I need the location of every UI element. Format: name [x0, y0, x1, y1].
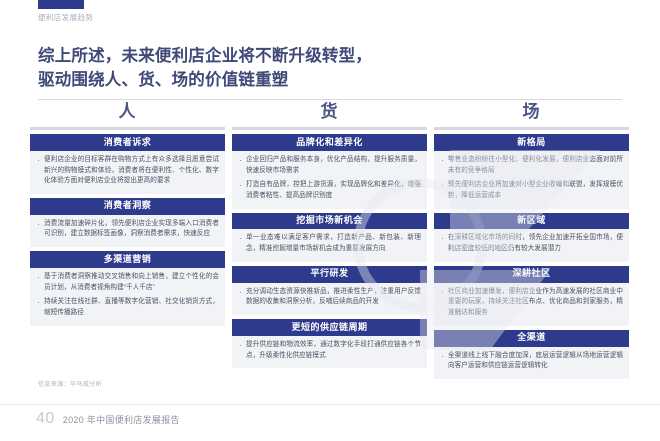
card-omnichannel: 全渠道 全渠道线上线下融合度加深，底层运营逻辑从场地运营逻辑向客户运营和供应链运… [434, 330, 629, 379]
card-bullets: 社区商业加速爆发，便利店企业作为高速发展的社区商业中重要的玩家，持续关注社区布点… [434, 283, 629, 321]
heading-divider [38, 99, 622, 100]
bullet-item: 企业回归产品和服务本身，优化产品结构，提升服务质量，快速反映市场需求 [239, 155, 421, 176]
bullet-item: 持续关注在线社群、直播等数字化营销、社交化销货方式，缩短传播路径 [37, 297, 219, 318]
bullet-item: 基于消费者洞察推动交叉销售和向上销售，建立个性化的会员计划，从消费者视角构建“千… [37, 272, 219, 293]
card-title: 挖掘市场新机会 [232, 213, 427, 230]
card-bullets: 在深耕区域化市场的同时，领先企业加速开拓全国市场，便利店密度较低的地区仍有较大发… [434, 229, 629, 256]
card-branding-differentiation: 品牌化和差异化 企业回归产品和服务本身，优化产品结构，提升服务质量，快速反映市场… [232, 134, 427, 209]
source-note: 信息来源：毕马威分析 [38, 379, 102, 388]
card-bullets: 便利店企业的目标客群在购物方式上有众多选择且愿意尝试新兴的购物模式和体验，消费者… [30, 151, 225, 189]
card-bullets: 充分调动生态资源快推新品，推进柔性生产，注重用户反馈数据的收集和洞察分析，反哺后… [232, 283, 427, 310]
card-title: 新区域 [434, 213, 629, 230]
card-bullets: 消费流量加速碎片化，领先便利店企业实现多端入口消费者可识别，建立数据标签画像，洞… [30, 215, 225, 242]
card-title: 新格局 [434, 134, 629, 151]
bullet-item: 打造自有品牌，控把上游货源，实现品牌化和差异化，增强消费者粘性、提高品牌识别度 [239, 180, 421, 201]
bullet-item: 充分调动生态资源快推新品，推进柔性生产，注重用户反馈数据的收集和洞察分析，反哺后… [239, 287, 421, 308]
trend-columns: 人 消费者诉求 便利店企业的目标客群在购物方式上有众多选择且愿意尝试新兴的购物模… [30, 103, 630, 379]
card-bullets: 全渠道线上线下融合度加深，底层运营逻辑从场地运营逻辑向客户运营和供应链运营逻辑转… [434, 347, 629, 374]
card-consumer-insight: 消费者洞察 消费流量加速碎片化，领先便利店企业实现多端入口消费者可识别，建立数据… [30, 198, 225, 247]
card-multichannel-marketing: 多渠道营销 基于消费者洞察推动交叉销售和向上销售，建立个性化的会员计划，从消费者… [30, 251, 225, 326]
card-shorter-supply-chain: 更短的供应链周期 提升供应链和物流效率，通过数字化手段打通供应链各个节点，升级柔… [232, 319, 427, 368]
bullet-item: 社区商业加速爆发，便利店企业作为高速发展的社区商业中重要的玩家，持续关注社区布点… [441, 287, 623, 319]
card-title: 多渠道营销 [30, 251, 225, 268]
card-bullets: 提升供应链和物流效率，通过数字化手段打通供应链各个节点，升级柔性化供应链模式 [232, 336, 427, 363]
card-title: 深耕社区 [434, 266, 629, 283]
column-letter-place: 场 [434, 103, 629, 125]
card-bullets: 零售业态纷纷往小型化、便利化发展，便利店业态面对前所未有的竞争格局 领先便利店企… [434, 151, 629, 204]
card-parallel-rnd: 平行研发 充分调动生态资源快推新品，推进柔性生产，注重用户反馈数据的收集和洞察分… [232, 266, 427, 315]
bullet-item: 消费流量加速碎片化，领先便利店企业实现多端入口消费者可识别，建立数据标签画像，洞… [37, 219, 219, 240]
column-people: 人 消费者诉求 便利店企业的目标客群在购物方式上有众多选择且愿意尝试新兴的购物模… [30, 103, 225, 379]
footer-divider [0, 404, 660, 405]
column-goods: 货 品牌化和差异化 企业回归产品和服务本身，优化产品结构，提升服务质量，快速反映… [232, 103, 427, 379]
page-title: 综上所述，未来便利店企业将不断升级转型， 驱动围绕人、货、场的价值链重塑 [38, 44, 598, 93]
bullet-item: 在深耕区域化市场的同时，领先企业加速开拓全国市场，便利店密度较低的地区仍有较大发… [441, 233, 623, 254]
card-new-region: 新区域 在深耕区域化市场的同时，领先企业加速开拓全国市场，便利店密度较低的地区仍… [434, 213, 629, 262]
column-rule-place [434, 127, 629, 130]
column-place: 场 新格局 零售业态纷纷往小型化、便利化发展，便利店业态面对前所未有的竞争格局 … [434, 103, 629, 379]
card-title: 更短的供应链周期 [232, 319, 427, 336]
card-new-landscape: 新格局 零售业态纷纷往小型化、便利化发展，便利店业态面对前所未有的竞争格局 领先… [434, 134, 629, 209]
bullet-item: 提升供应链和物流效率，通过数字化手段打通供应链各个节点，升级柔性化供应链模式 [239, 340, 421, 361]
column-letter-goods: 货 [232, 103, 427, 125]
page-number: 40 [36, 410, 55, 428]
bullet-item: 领先便利店企业将加速对小型企业收编和联盟，发挥规模优势，降低运营成本 [441, 180, 623, 201]
bullet-item: 便利店企业的目标客群在购物方式上有众多选择且愿意尝试新兴的购物模式和体验，消费者… [37, 155, 219, 187]
brand-bar [38, 0, 84, 9]
section-eyebrow: 便利店发展趋势 [38, 12, 93, 23]
card-bullets: 单一业态难以满足客户需求，打造新产品、新包装、新理念，精准挖掘增量市场新机会成为… [232, 229, 427, 256]
card-consumer-demand: 消费者诉求 便利店企业的目标客群在购物方式上有众多选择且愿意尝试新兴的购物模式和… [30, 134, 225, 194]
card-community-focus: 深耕社区 社区商业加速爆发，便利店企业作为高速发展的社区商业中重要的玩家，持续关… [434, 266, 629, 326]
column-letter-people: 人 [30, 103, 225, 125]
card-title: 消费者洞察 [30, 198, 225, 215]
page-title-line-2: 驱动围绕人、货、场的价值链重塑 [38, 68, 598, 92]
card-title: 全渠道 [434, 330, 629, 347]
column-rule-goods [232, 127, 427, 130]
column-rule-people [30, 127, 225, 130]
bullet-item: 零售业态纷纷往小型化、便利化发展，便利店业态面对前所未有的竞争格局 [441, 155, 623, 176]
bullet-item: 单一业态难以满足客户需求，打造新产品、新包装、新理念，精准挖掘增量市场新机会成为… [239, 233, 421, 254]
card-title: 品牌化和差异化 [232, 134, 427, 151]
card-new-market-opportunities: 挖掘市场新机会 单一业态难以满足客户需求，打造新产品、新包装、新理念，精准挖掘增… [232, 213, 427, 262]
page-footer: 40 2020 年中国便利店发展报告 [36, 410, 180, 428]
page-title-line-1: 综上所述，未来便利店企业将不断升级转型， [38, 44, 598, 68]
report-title: 2020 年中国便利店发展报告 [63, 413, 180, 426]
card-title: 消费者诉求 [30, 134, 225, 151]
card-bullets: 基于消费者洞察推动交叉销售和向上销售，建立个性化的会员计划，从消费者视角构建“千… [30, 268, 225, 321]
card-bullets: 企业回归产品和服务本身，优化产品结构，提升服务质量，快速反映市场需求 打造自有品… [232, 151, 427, 204]
card-title: 平行研发 [232, 266, 427, 283]
bullet-item: 全渠道线上线下融合度加深，底层运营逻辑从场地运营逻辑向客户运营和供应链运营逻辑转… [441, 351, 623, 372]
